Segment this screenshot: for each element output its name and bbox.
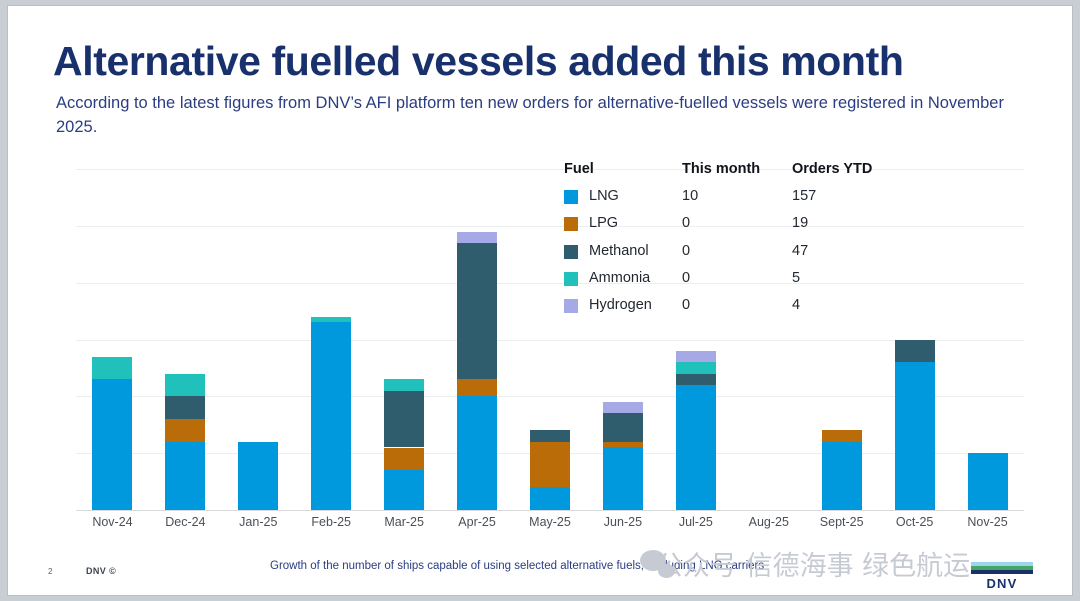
bar-segment-lng[interactable] (968, 453, 1008, 510)
bar-segment-methanol[interactable] (603, 413, 643, 441)
legend-this-month: 0 (682, 297, 782, 313)
bar-segment-lng[interactable] (311, 322, 351, 510)
x-tick-label-nov-25: Nov-25 (942, 515, 1034, 529)
legend-swatch-methanol (564, 245, 578, 259)
bar-segment-methanol[interactable] (457, 243, 497, 379)
bar-segment-ammonia[interactable] (384, 379, 424, 390)
bar-segment-methanol[interactable] (895, 340, 935, 363)
bar-segment-lng[interactable] (165, 442, 205, 510)
bar-segment-methanol[interactable] (165, 396, 205, 419)
gridline-0 (76, 510, 1024, 511)
bar-segment-lpg[interactable] (384, 448, 424, 471)
bar-apr-25[interactable] (457, 232, 497, 510)
bar-mar-25[interactable] (384, 379, 424, 510)
bar-may-25[interactable] (530, 430, 570, 510)
bar-segment-lng[interactable] (92, 379, 132, 510)
bar-segment-methanol[interactable] (676, 374, 716, 385)
legend-this-month: 0 (682, 215, 782, 231)
legend-orders-ytd: 47 (792, 243, 882, 259)
page-subtitle: According to the latest figures from DNV… (56, 92, 1011, 140)
bar-jul-25[interactable] (676, 351, 716, 510)
legend-swatch-hydrogen (564, 299, 578, 313)
bar-segment-methanol[interactable] (384, 391, 424, 448)
bar-segment-lpg[interactable] (530, 442, 570, 487)
legend-this-month: 0 (682, 243, 782, 259)
watermark-text: 公众号 信德海事 绿色航运 (656, 544, 970, 583)
bar-segment-lng[interactable] (384, 470, 424, 510)
bar-segment-hydrogen[interactable] (603, 402, 643, 413)
legend-header-this-month: This month (682, 161, 782, 177)
bar-segment-lng[interactable] (895, 362, 935, 510)
bar-sept-25[interactable] (822, 430, 862, 510)
logo-wordmark: DNV (971, 576, 1033, 591)
bar-dec-24[interactable] (165, 374, 205, 510)
page-number: 2 (48, 567, 52, 576)
bar-jan-25[interactable] (238, 442, 278, 510)
slide-canvas: Alternative fuelled vessels added this m… (8, 6, 1072, 595)
legend-orders-ytd: 19 (792, 215, 882, 231)
bar-segment-lpg[interactable] (457, 379, 497, 396)
bar-segment-hydrogen[interactable] (457, 232, 497, 243)
legend-swatch-ammonia (564, 272, 578, 286)
bar-nov-25[interactable] (968, 453, 1008, 510)
legend-orders-ytd: 157 (792, 188, 882, 204)
legend-swatch-lpg (564, 217, 578, 231)
legend-header-fuel: Fuel (564, 161, 674, 177)
legend-orders-ytd: 4 (792, 297, 882, 313)
page-title: Alternative fuelled vessels added this m… (53, 38, 903, 85)
bar-segment-lng[interactable] (822, 442, 862, 510)
legend-this-month: 0 (682, 270, 782, 286)
bar-segment-ammonia[interactable] (165, 374, 205, 397)
brand-mark: DNV © (86, 566, 116, 576)
bar-segment-lpg[interactable] (822, 430, 862, 441)
bar-segment-lng[interactable] (457, 396, 497, 510)
bar-nov-24[interactable] (92, 357, 132, 510)
bar-segment-ammonia[interactable] (92, 357, 132, 380)
legend-orders-ytd: 5 (792, 270, 882, 286)
bar-segment-lng[interactable] (238, 442, 278, 510)
bar-segment-methanol[interactable] (530, 430, 570, 441)
dnv-logo: DNV (971, 562, 1033, 591)
bar-segment-lng[interactable] (530, 487, 570, 510)
bar-segment-lng[interactable] (603, 447, 643, 510)
legend-header-orders-ytd: Orders YTD (792, 161, 882, 177)
bar-feb-25[interactable] (311, 317, 351, 510)
bar-segment-ammonia[interactable] (676, 362, 716, 373)
bar-segment-lpg[interactable] (165, 419, 205, 442)
bar-segment-lpg[interactable] (603, 442, 643, 448)
bar-segment-lng[interactable] (676, 385, 716, 510)
bar-segment-hydrogen[interactable] (676, 351, 716, 362)
logo-stripe-navy (971, 570, 1033, 574)
legend-this-month: 10 (682, 188, 782, 204)
bar-jun-25[interactable] (603, 402, 643, 510)
legend-swatch-lng (564, 190, 578, 204)
bar-segment-ammonia[interactable] (311, 317, 351, 323)
bar-oct-25[interactable] (895, 340, 935, 511)
